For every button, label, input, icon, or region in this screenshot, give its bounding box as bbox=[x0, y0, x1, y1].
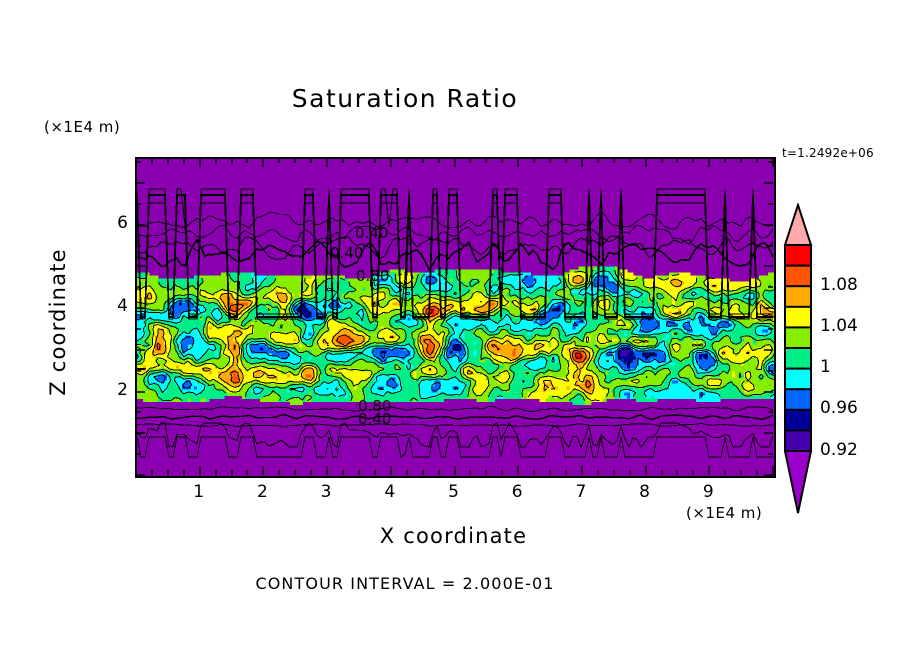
colorbar-tick-label: 1 bbox=[820, 357, 831, 377]
y-tick-label: 4 bbox=[98, 296, 128, 316]
x-tick-label: 7 bbox=[566, 482, 596, 502]
y-axis-title: Z coordinate bbox=[46, 222, 70, 422]
x-tick-label: 9 bbox=[693, 482, 723, 502]
colorbar-tick-label: 1.08 bbox=[820, 275, 858, 295]
contour-value-label: 0.40 bbox=[355, 224, 388, 242]
colorbar-tick-label: 1.04 bbox=[820, 316, 858, 336]
contour-field-svg bbox=[137, 159, 774, 476]
figure-canvas: Saturation Ratio (×1E4 m) t=1.2492e+06 1… bbox=[0, 0, 904, 654]
x-axis-unit-label: (×1E4 m) bbox=[686, 504, 762, 522]
x-tick-label: 5 bbox=[439, 482, 469, 502]
contour-value-label: 0.40 bbox=[358, 410, 391, 428]
contour-interval-caption: CONTOUR INTERVAL = 2.000E-01 bbox=[0, 574, 810, 593]
y-tick-label: 2 bbox=[98, 380, 128, 400]
x-axis-title: X coordinate bbox=[135, 524, 772, 548]
contour-value-label: 0.80 bbox=[356, 267, 389, 285]
colorbar-swatches bbox=[783, 203, 813, 515]
contour-plot-area bbox=[135, 157, 776, 478]
page-title: Saturation Ratio bbox=[0, 84, 810, 113]
contour-value-label: 0.40 bbox=[330, 244, 363, 262]
x-tick-label: 4 bbox=[375, 482, 405, 502]
y-tick-label: 6 bbox=[98, 213, 128, 233]
x-tick-label: 1 bbox=[184, 482, 214, 502]
colorbar-tick-label: 0.92 bbox=[820, 440, 858, 460]
time-annotation: t=1.2492e+06 bbox=[782, 146, 874, 160]
x-tick-label: 6 bbox=[502, 482, 532, 502]
x-tick-label: 2 bbox=[247, 482, 277, 502]
x-tick-label: 3 bbox=[311, 482, 341, 502]
colorbar bbox=[783, 203, 813, 515]
colorbar-tick-label: 0.96 bbox=[820, 398, 858, 418]
x-tick-label: 8 bbox=[630, 482, 660, 502]
y-axis-unit-label: (×1E4 m) bbox=[44, 118, 120, 136]
